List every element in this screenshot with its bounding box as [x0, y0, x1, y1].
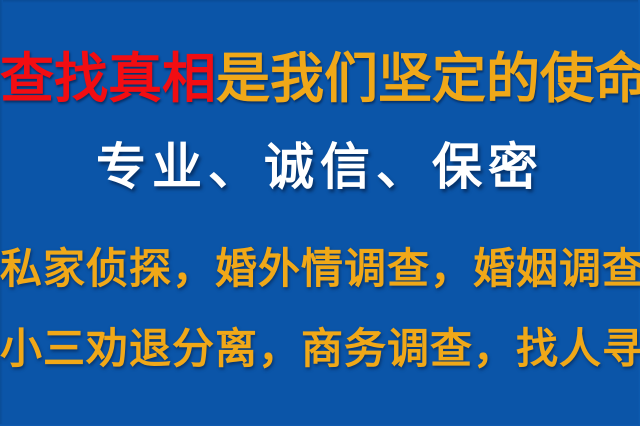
- headline-emphasis-text: 查找真相: [0, 47, 216, 110]
- services-text-line-1: 私家侦探，婚外情调查，婚姻调查，: [0, 248, 640, 290]
- services-text-line-2: 小三劝退分离，商务调查，找人寻人: [0, 328, 640, 370]
- values-text: 专业、诚信、保密: [0, 142, 640, 192]
- headline-text: 查找真相是我们坚定的使命: [0, 52, 640, 106]
- headline-remainder-text: 是我们坚定的使命: [216, 47, 640, 110]
- banner-text-block: 查找真相是我们坚定的使命 专业、诚信、保密 私家侦探，婚外情调查，婚姻调查， 小…: [0, 0, 640, 426]
- advertisement-banner: 查找真相是我们坚定的使命 专业、诚信、保密 私家侦探，婚外情调查，婚姻调查， 小…: [0, 0, 640, 426]
